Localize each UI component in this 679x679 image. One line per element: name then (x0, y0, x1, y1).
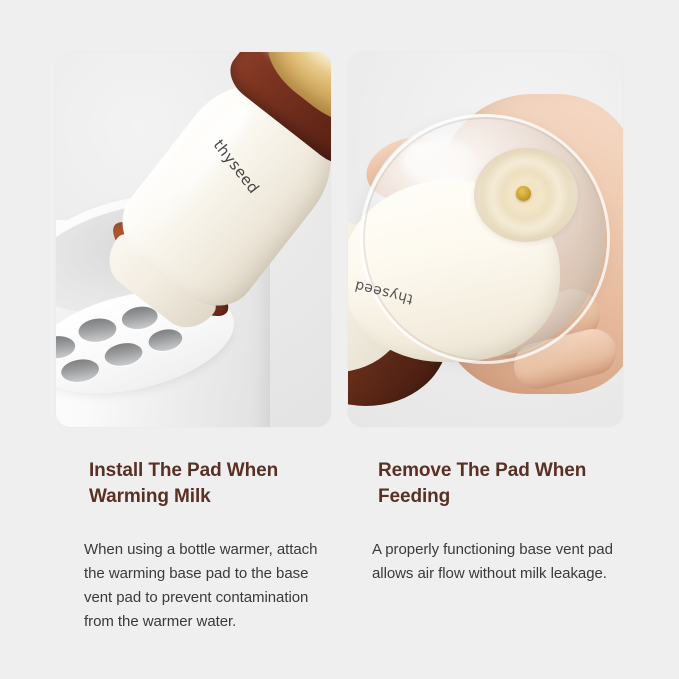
feature-column-remove-pad: Remove The Pad When Feeding A properly f… (361, 458, 623, 634)
hand-holding-inverted-bottle-photo: thyseed (348, 52, 623, 427)
dome-highlight (402, 138, 476, 186)
feature-title: Remove The Pad When Feeding (361, 458, 623, 510)
bottle-dome-rim (360, 114, 610, 364)
hand-scene: thyseed (348, 52, 623, 427)
feature-column-install-pad: Install The Pad When Warming Milk When u… (56, 458, 318, 634)
rack-hole (56, 335, 76, 360)
text-row: Install The Pad When Warming Milk When u… (56, 458, 623, 634)
photo-row: thyseed thyseed (56, 52, 623, 427)
feature-description: A properly functioning base vent pad all… (361, 510, 623, 586)
rack-hole (60, 357, 101, 384)
bottle-in-warmer-photo: thyseed (56, 52, 331, 427)
vent-valve-icon (516, 186, 531, 201)
rack-hole (103, 340, 144, 368)
feature-description: When using a bottle warmer, attach the w… (56, 510, 318, 634)
warmer-scene: thyseed (56, 52, 331, 427)
product-feature-infographic: thyseed thyseed (0, 0, 679, 679)
feature-title: Install The Pad When Warming Milk (56, 458, 318, 510)
rack-hole (77, 316, 118, 343)
